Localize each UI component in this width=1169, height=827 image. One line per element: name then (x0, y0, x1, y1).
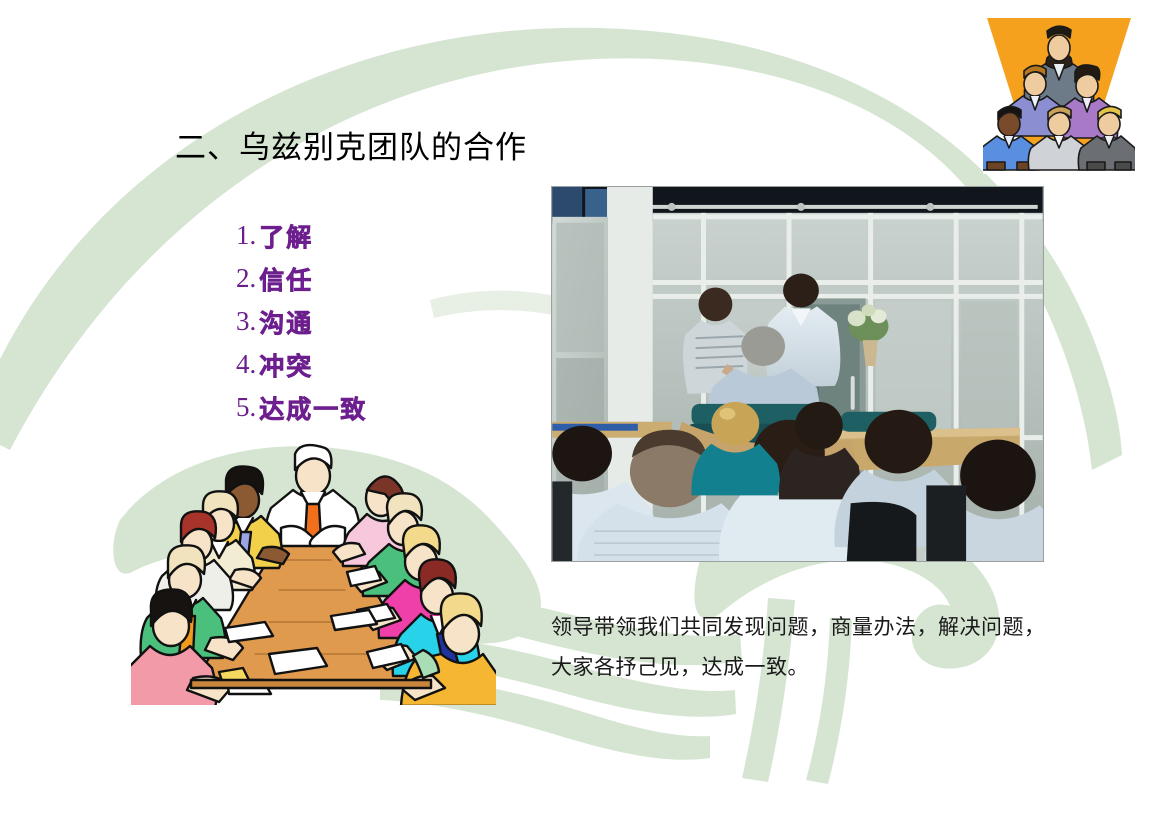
meeting-room-photo (551, 186, 1044, 562)
list-item-label: 沟通 (259, 304, 313, 340)
list-item-label: 了解 (259, 218, 313, 254)
list-item-label: 信任 (259, 261, 313, 297)
list-item: 3. 沟通 (236, 300, 367, 343)
photo-caption: 领导带领我们共同发现问题，商量办法，解决问题， 大家各抒己见，达成一致。 (551, 607, 1081, 687)
list-item: 5. 达成一致 (236, 386, 367, 429)
list-item: 1. 了解 (236, 214, 367, 257)
list-item-number: 3. (236, 306, 256, 337)
caption-line-1: 领导带领我们共同发现问题，商量办法，解决问题， (551, 607, 1081, 647)
list-item-number: 1. (236, 220, 256, 251)
list-item-label: 冲突 (259, 347, 313, 383)
list-item-number: 4. (236, 349, 256, 380)
page-title: 二、乌兹别克团队的合作 (175, 129, 527, 167)
list-item-number: 5. (236, 392, 256, 423)
presentation-slide: 二、乌兹别克团队的合作 1. 了解 2. 信任 3. 沟通 4. 冲突 5. 达… (0, 0, 1169, 827)
caption-line-2: 大家各抒己见，达成一致。 (551, 647, 1081, 687)
list-item: 2. 信任 (236, 257, 367, 300)
list-item: 4. 冲突 (236, 343, 367, 386)
list-item-number: 2. (236, 263, 256, 294)
team-pyramid-clipart (983, 12, 1135, 174)
roundtable-meeting-clipart (131, 440, 496, 705)
list-item-label: 达成一致 (259, 390, 367, 426)
numbered-list: 1. 了解 2. 信任 3. 沟通 4. 冲突 5. 达成一致 (236, 214, 367, 429)
